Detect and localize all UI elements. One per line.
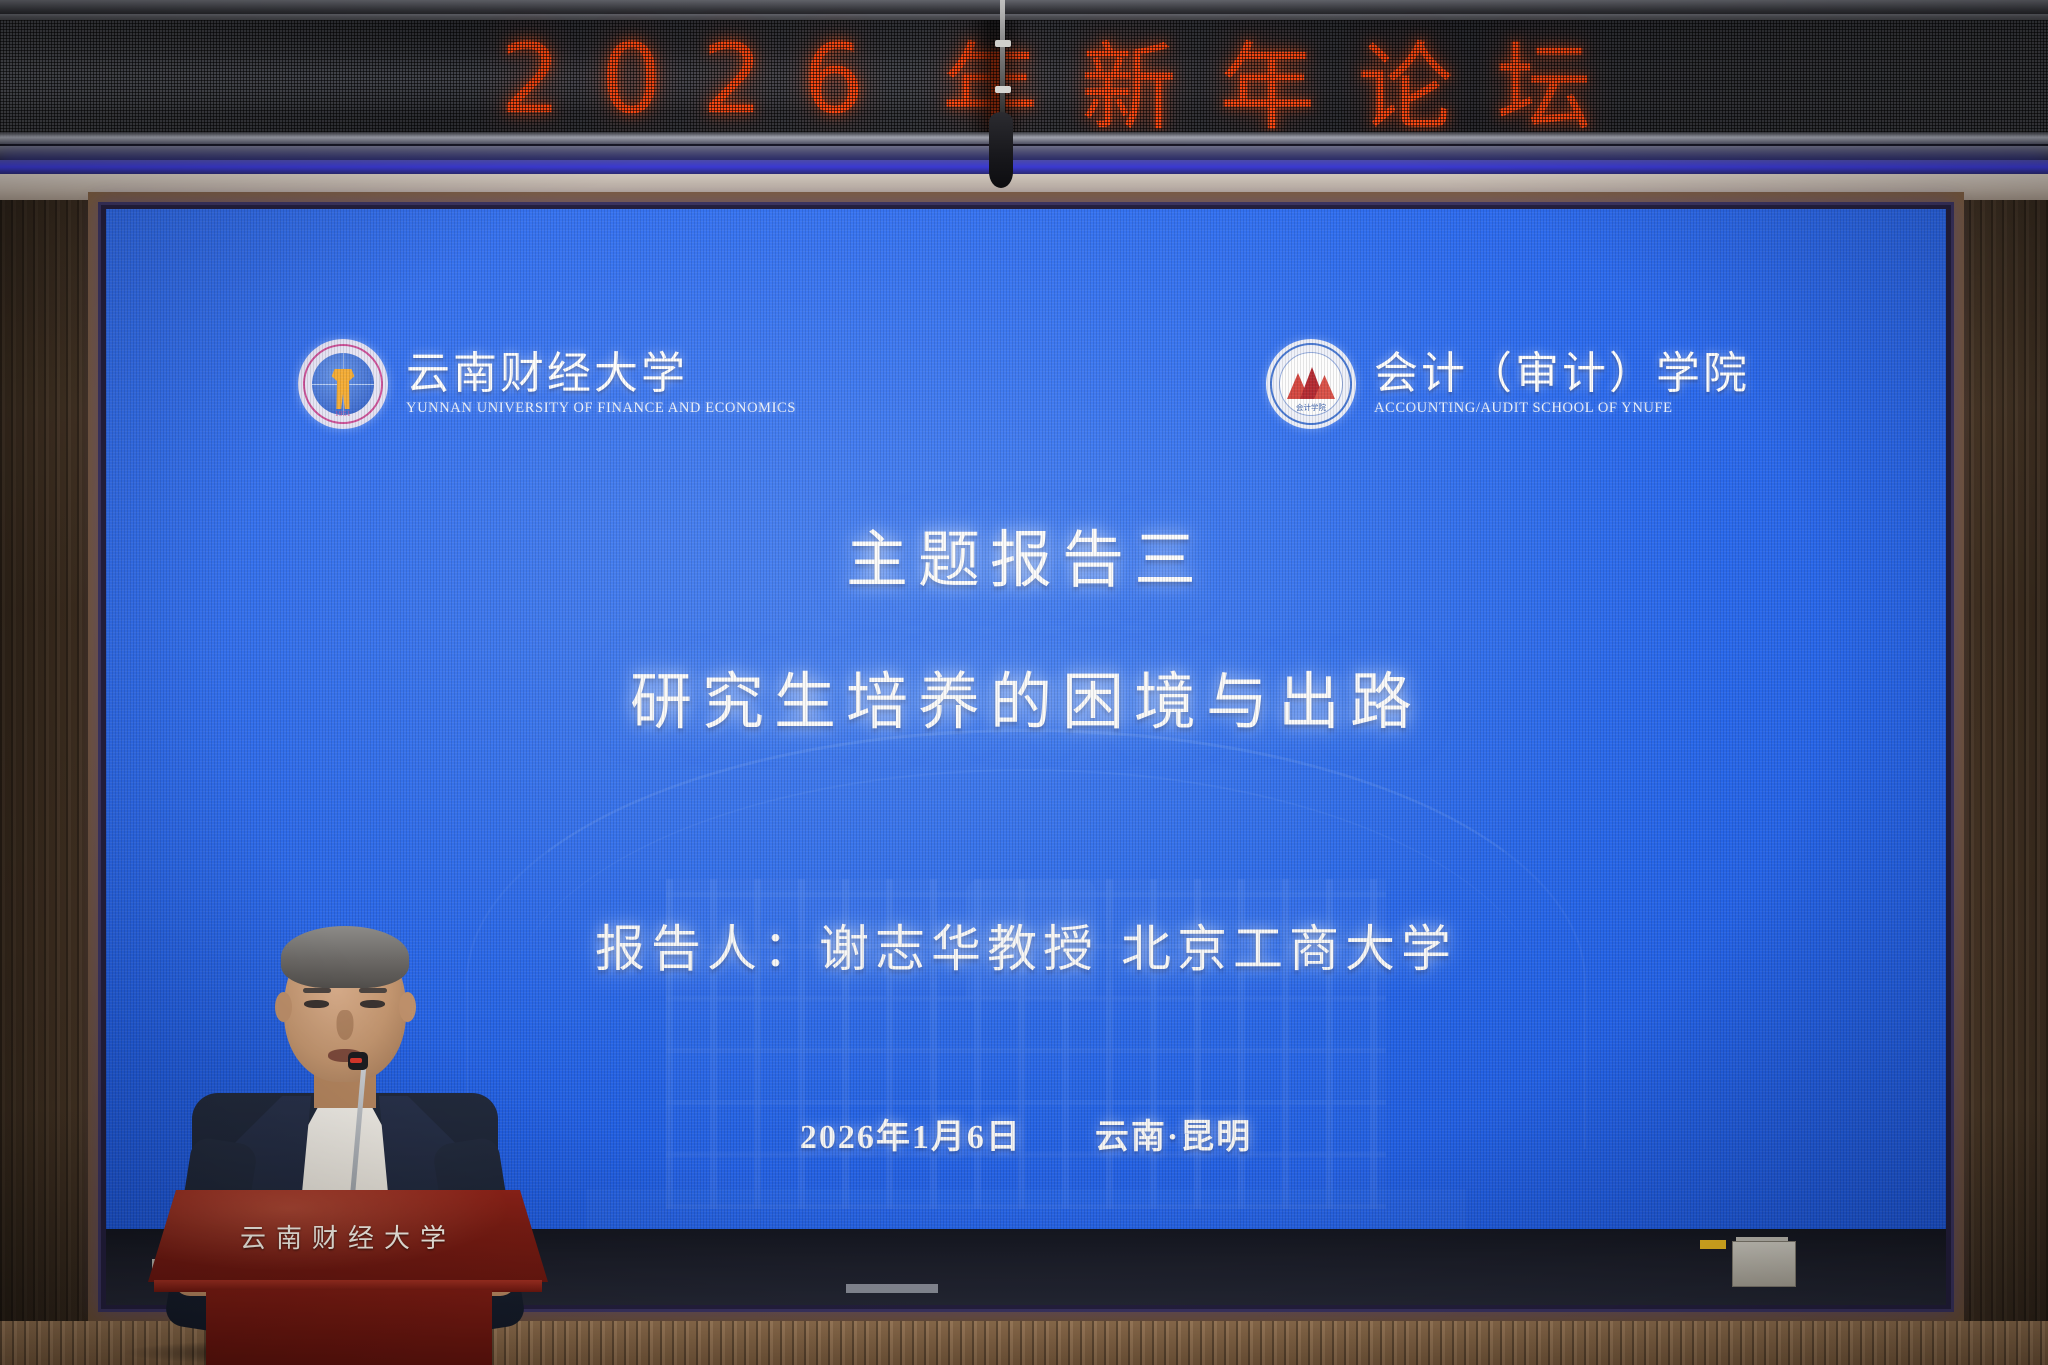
seal-founding-year: 1951 [335,410,351,418]
led-banner-text: 2026 年 新 年 论 坛 [0,20,2048,138]
school-logo: 会计学院 会计（审计）学院 ACCOUNTING/AUDIT SCHOOL OF… [1266,339,1750,429]
ynufe-seal-icon: 1951 [298,339,388,429]
mic-cable-clip-lower [995,86,1011,93]
accounting-school-seal-icon: 会计学院 [1266,339,1356,429]
lectern-podium: 云南财经大学 [148,1190,548,1365]
led-banner-rest: 年 新 年 论 坛 [942,10,1598,149]
podium-university-label: 云南财经大学 [148,1218,548,1255]
seal-school-name-cn: 会计学院 [1296,402,1326,413]
speaker-eye-left [304,1000,329,1008]
slide-location: 云南·昆明 [1095,1119,1252,1156]
led-banner-year: 2026 [460,23,904,135]
slide-title: 主题报告三 [106,509,1946,599]
speaker-brow-right [359,988,387,993]
hanging-microphone-cable [1000,0,1005,118]
mountain-peaks-icon [1287,365,1335,399]
school-name-en: ACCOUNTING/AUDIT SCHOOL OF YNUFE [1374,400,1750,417]
campus-building-watermark [466,809,1586,1229]
mic-cable-clip-upper [995,40,1011,47]
band-center-marker [846,1284,938,1293]
university-name-cn: 云南财经大学 [406,351,796,397]
led-banner: 2026 年 新 年 论 坛 [0,0,2048,160]
hanging-microphone-icon [989,112,1013,188]
watermark-plinth [586,1189,1466,1229]
university-logo: 1951 云南财经大学 YUNNAN UNIVERSITY OF FINANCE… [298,339,796,429]
slide-logo-row: 1951 云南财经大学 YUNNAN UNIVERSITY OF FINANCE… [106,339,1946,429]
school-logo-text: 会计（审计）学院 ACCOUNTING/AUDIT SCHOOL OF YNUF… [1374,351,1750,416]
university-name-en: YUNNAN UNIVERSITY OF FINANCE AND ECONOMI… [406,400,796,417]
slide-headline-block: 主题报告三 研究生培养的困境与出路 [106,509,1946,741]
speaker-hair [281,926,409,988]
school-name-cn: 会计（审计）学院 [1374,351,1750,397]
speaker-nose [337,1010,354,1040]
microphone-status-led [350,1058,362,1063]
podium-column [206,1290,492,1365]
slide-date: 2026年1月6日 [800,1119,1022,1156]
conference-stage-photo: 2026 年 新 年 论 坛 [0,0,2048,1365]
speaker-eye-right [360,1000,385,1008]
speaker-ear-left [275,992,292,1022]
slide-subtitle: 研究生培养的困境与出路 [106,651,1946,741]
speaker-brow-left [303,988,331,993]
university-logo-text: 云南财经大学 YUNNAN UNIVERSITY OF FINANCE AND … [406,351,796,416]
yellow-status-indicator [1700,1240,1726,1249]
speaker-ear-right [399,992,416,1022]
blue-cove-light-strip [0,160,2048,174]
led-banner-panel: 2026 年 新 年 论 坛 [0,20,2048,138]
band-mounted-device [1732,1241,1796,1287]
